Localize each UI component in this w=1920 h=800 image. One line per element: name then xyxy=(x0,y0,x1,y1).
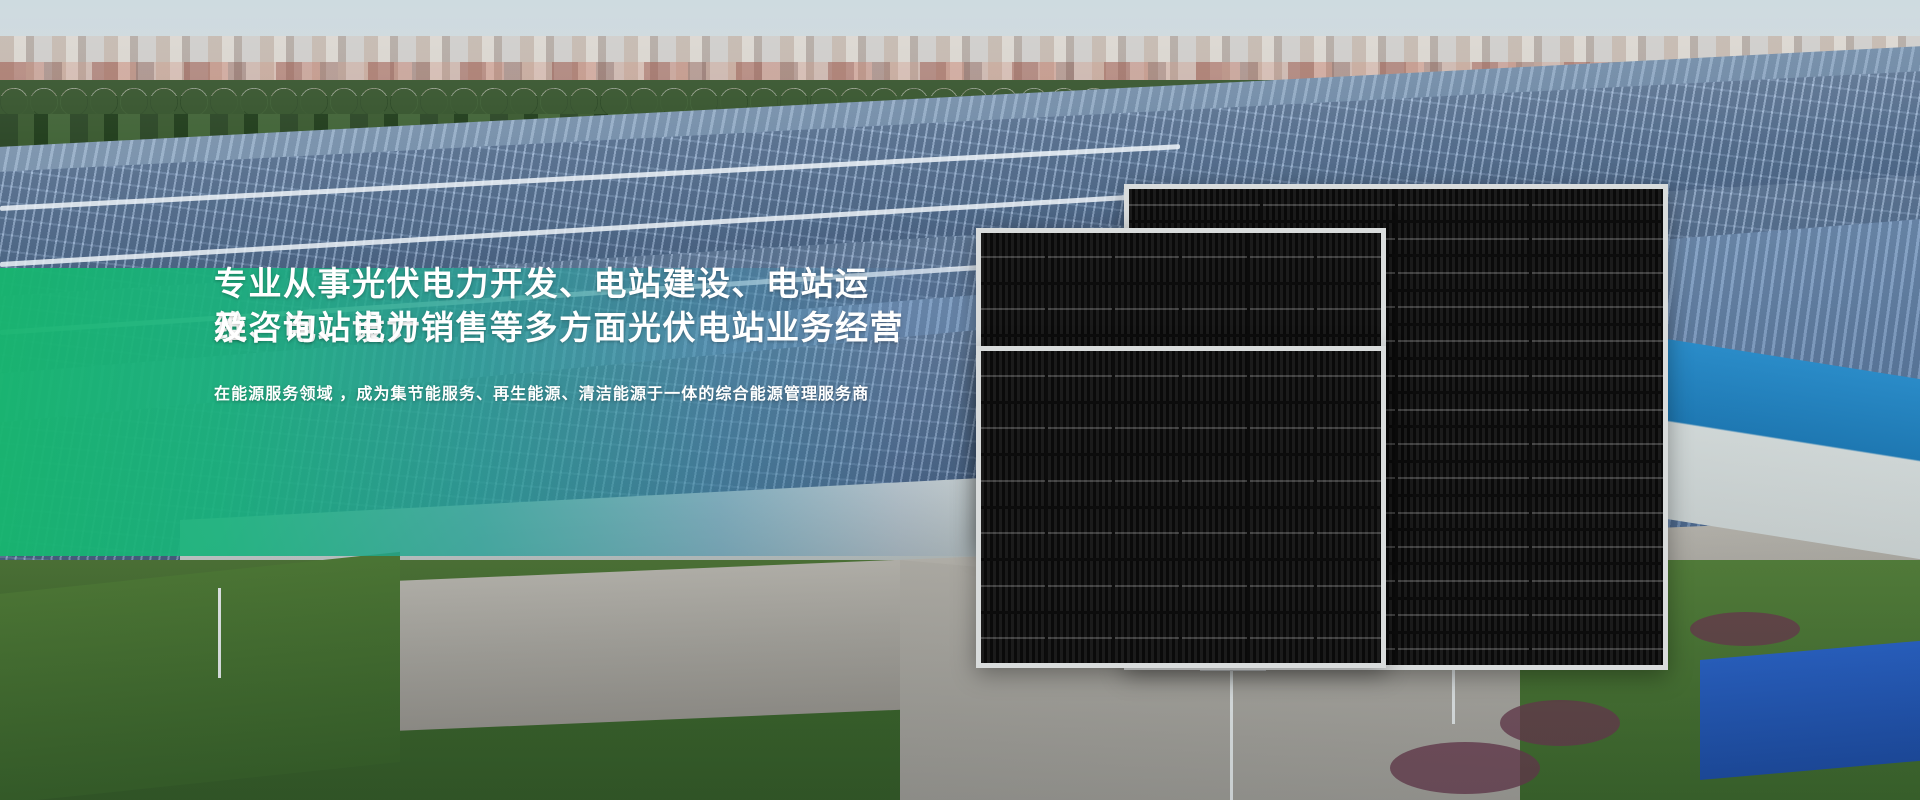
solar-cell xyxy=(1398,360,1529,391)
solar-cell xyxy=(1398,189,1529,220)
solar-cell xyxy=(1182,509,1246,559)
solar-cell xyxy=(1182,456,1246,506)
solar-cell xyxy=(1398,326,1529,357)
solar-cell xyxy=(1048,233,1112,282)
solar-cell xyxy=(1115,233,1179,282)
solar-module-front-lower xyxy=(976,346,1386,668)
solar-cell xyxy=(1398,600,1529,631)
solar-cell xyxy=(1317,456,1381,506)
solar-cell xyxy=(1398,531,1529,562)
solar-cell xyxy=(1250,285,1314,334)
solar-cell xyxy=(1048,561,1112,611)
solar-cell xyxy=(981,351,1045,401)
solar-cell xyxy=(1115,614,1179,664)
solar-cell xyxy=(981,404,1045,454)
solar-cell xyxy=(1182,614,1246,664)
solar-cell xyxy=(1532,531,1663,562)
solar-cell xyxy=(1532,257,1663,288)
solar-cell xyxy=(981,614,1045,664)
solar-cell xyxy=(1182,233,1246,282)
solar-cell xyxy=(1317,285,1381,334)
solar-cell xyxy=(1263,189,1394,220)
banner-headline-line2: 及咨询、电力销售等多方面光伏电站业务经营 xyxy=(214,306,934,350)
solar-cell xyxy=(1250,456,1314,506)
solar-cell xyxy=(1398,292,1529,323)
solar-cell xyxy=(1250,351,1314,401)
solar-cell xyxy=(1250,509,1314,559)
solar-cell xyxy=(1317,404,1381,454)
solar-cell xyxy=(1048,351,1112,401)
solar-cell xyxy=(1398,223,1529,254)
solar-cell xyxy=(1398,428,1529,459)
solar-cell xyxy=(1048,285,1112,334)
solar-cell xyxy=(1182,561,1246,611)
solar-cell xyxy=(981,285,1045,334)
solar-cell xyxy=(1048,456,1112,506)
solar-cell xyxy=(1250,233,1314,282)
solar-cell xyxy=(1398,463,1529,494)
solar-cell xyxy=(1048,509,1112,559)
solar-cell xyxy=(1115,561,1179,611)
solar-cell xyxy=(1317,614,1381,664)
solar-cell xyxy=(1115,509,1179,559)
solar-cell xyxy=(1115,285,1179,334)
solar-cell xyxy=(1398,394,1529,425)
solar-cell xyxy=(1115,404,1179,454)
solar-cell xyxy=(1317,351,1381,401)
solar-cell xyxy=(1532,394,1663,425)
solar-cell xyxy=(1532,463,1663,494)
solar-cell xyxy=(1532,360,1663,391)
solar-cell xyxy=(981,509,1045,559)
solar-cell xyxy=(981,561,1045,611)
solar-cell xyxy=(981,456,1045,506)
solar-cell xyxy=(1317,509,1381,559)
solar-cell xyxy=(1250,404,1314,454)
solar-cell xyxy=(1048,404,1112,454)
solar-cell xyxy=(1532,326,1663,357)
solar-cell xyxy=(1317,561,1381,611)
solar-cell xyxy=(1398,565,1529,596)
solar-cell xyxy=(1532,223,1663,254)
solar-cell xyxy=(1048,614,1112,664)
solar-cell xyxy=(1182,285,1246,334)
solar-cell xyxy=(1182,351,1246,401)
solar-module-front-cells-bottom xyxy=(981,351,1381,663)
solar-cell xyxy=(1532,189,1663,220)
solar-cell xyxy=(1398,634,1529,665)
solar-cell xyxy=(1398,497,1529,528)
solar-cell xyxy=(1532,565,1663,596)
solar-cell xyxy=(1532,428,1663,459)
solar-cell xyxy=(1250,561,1314,611)
solar-cell xyxy=(1250,614,1314,664)
solar-cell xyxy=(1532,600,1663,631)
solar-cell xyxy=(1398,257,1529,288)
solar-cell xyxy=(1532,634,1663,665)
solar-cell xyxy=(1115,456,1179,506)
solar-cell xyxy=(981,233,1045,282)
solar-cell xyxy=(1182,404,1246,454)
solar-cell xyxy=(1129,189,1260,220)
banner-subline: 在能源服务领域 ，成为集节能服务、再生能源、清洁能源于一体的综合能源管理服务商 xyxy=(214,382,974,408)
solar-cell xyxy=(1317,233,1381,282)
solar-cell xyxy=(1532,497,1663,528)
solar-cell xyxy=(1532,292,1663,323)
hero-banner: 专业从事光伏电力开发、电站建设、电站运维、电站设计 及咨询、电力销售等多方面光伏… xyxy=(0,0,1920,800)
solar-cell xyxy=(1115,351,1179,401)
